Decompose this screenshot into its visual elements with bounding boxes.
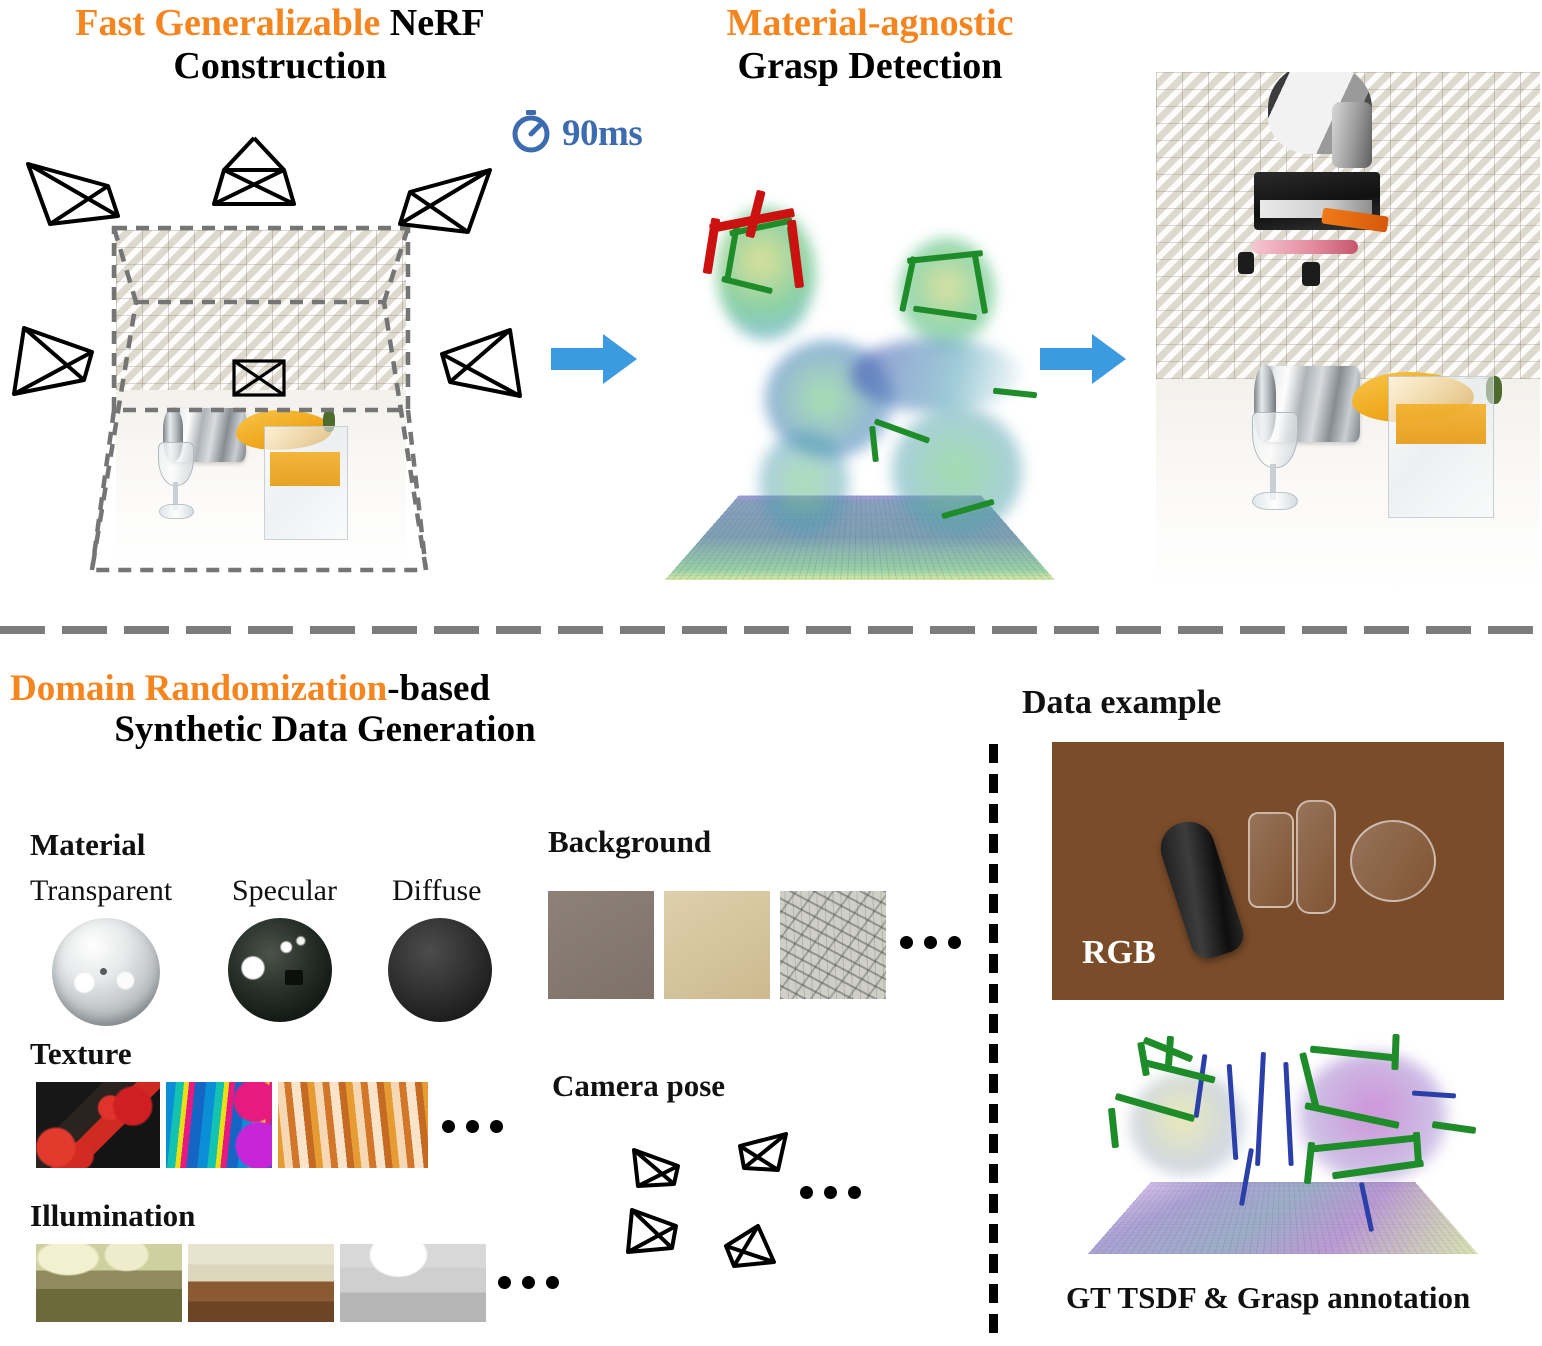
background-swatch	[548, 891, 654, 999]
dark-bottle-object	[1154, 815, 1248, 963]
tsdf-grasp-visualization	[655, 190, 1065, 590]
illumination-panorama	[36, 1244, 182, 1322]
tsdf-surface-stroke	[1255, 1052, 1266, 1166]
group-heading-background: Background	[548, 824, 711, 860]
camera-frustum-icon	[722, 1222, 780, 1276]
gt-tsdf-grasp-visualization	[1048, 1012, 1516, 1260]
title-line-1: Fast Generalizable NeRF	[0, 2, 560, 45]
camera-frustum-icon	[430, 320, 526, 402]
camera-frustum-icon	[8, 318, 104, 400]
wine-glass-foot	[1252, 492, 1298, 510]
transparent-handle-object	[1350, 820, 1436, 902]
title-line-2: Grasp Detection	[660, 45, 1080, 88]
panel-title-synthetic-data: Domain Randomization-based Synthetic Dat…	[10, 668, 640, 751]
nerf-capture-volume	[78, 214, 448, 584]
tsdf-surface-stroke	[1283, 1062, 1293, 1166]
grasp-annotation	[1304, 1142, 1315, 1185]
camera-frustum-icon	[208, 134, 300, 212]
ellipsis-icon	[442, 1120, 503, 1133]
texture-thumbnail	[278, 1082, 428, 1168]
camera-frustum-icon	[628, 1142, 686, 1190]
title-black-part: -based	[387, 668, 490, 709]
specular-sphere-icon	[228, 918, 332, 1022]
tsdf-voxel-floor	[1088, 1182, 1478, 1254]
camera-frustum-icon	[392, 162, 496, 240]
inference-time-value: 90ms	[562, 112, 642, 155]
transparent-bottle-object	[1296, 800, 1336, 914]
title-orange-part: Domain Randomization	[10, 668, 387, 709]
camera-frustum-icon	[624, 1204, 682, 1256]
camera-frustum-icon	[734, 1128, 792, 1174]
arrow-right-icon	[551, 330, 637, 393]
group-heading-texture: Texture	[30, 1036, 132, 1072]
group-heading-camera-pose: Camera pose	[552, 1068, 725, 1104]
panel-title-data-example: Data example	[1022, 684, 1221, 722]
grasp-annotation	[1391, 1034, 1399, 1070]
tsdf-object-blob	[891, 406, 1023, 536]
capture-volume-dashed-box	[78, 214, 448, 584]
rgb-data-example-photo: RGB	[1052, 742, 1504, 1000]
stopwatch-icon	[508, 108, 554, 159]
robot-flange	[1332, 102, 1372, 168]
transparent-sphere-icon	[52, 918, 160, 1026]
material-label-specular: Specular	[232, 874, 337, 908]
grasp-annotation	[1165, 1036, 1174, 1066]
camera-frustum-icon	[22, 154, 126, 232]
diffuse-sphere-icon	[388, 918, 492, 1022]
illumination-panorama	[340, 1244, 486, 1322]
background-swatch	[664, 891, 770, 999]
illumination-panorama	[188, 1244, 334, 1322]
title-line-2: Synthetic Data Generation	[10, 709, 640, 750]
title-line-2: Construction	[0, 45, 560, 88]
group-heading-illumination: Illumination	[30, 1198, 195, 1234]
robot-execution-photo	[1156, 72, 1540, 592]
material-label-diffuse: Diffuse	[392, 874, 481, 908]
gripper-finger-left	[1238, 252, 1254, 274]
acrylic-inner-orange	[1396, 404, 1486, 444]
section-divider-vertical	[989, 744, 998, 1344]
rgb-image-label: RGB	[1082, 934, 1156, 972]
texture-thumbnail	[166, 1082, 272, 1168]
title-orange-part: Fast Generalizable	[75, 2, 380, 44]
group-heading-material: Material	[30, 827, 145, 863]
transparent-glass-object	[1248, 812, 1294, 908]
panel-title-nerf-construction: Fast Generalizable NeRF Construction	[0, 2, 560, 87]
material-label-transparent: Transparent	[30, 874, 172, 908]
ellipsis-icon	[900, 936, 961, 949]
panel-title-grasp-detection: Material-agnostic Grasp Detection	[660, 2, 1080, 87]
tsdf-object-blob	[759, 430, 849, 536]
title-line-1: Material-agnostic	[660, 2, 1080, 45]
gripper-finger-right	[1302, 262, 1320, 286]
gripper-finger-bar	[1252, 240, 1358, 254]
camera-frustum-icon	[232, 359, 286, 397]
texture-thumbnail	[36, 1082, 160, 1168]
ellipsis-icon	[498, 1276, 559, 1289]
inference-time-badge: 90ms	[508, 108, 642, 159]
title-black-part: NeRF	[380, 2, 484, 44]
background-swatch	[780, 891, 886, 999]
ellipsis-icon	[800, 1186, 861, 1199]
tsdf-object-blob	[851, 338, 1021, 412]
arrow-right-icon	[1040, 330, 1126, 393]
section-divider-horizontal	[0, 626, 1542, 634]
title-line-1: Domain Randomization-based	[10, 668, 640, 709]
grasp-annotation	[1108, 1108, 1119, 1149]
title-orange-part: Material-agnostic	[726, 2, 1013, 44]
tsdf-caption: GT TSDF & Grasp annotation	[1066, 1280, 1470, 1316]
acrylic-block-object	[1388, 376, 1494, 518]
